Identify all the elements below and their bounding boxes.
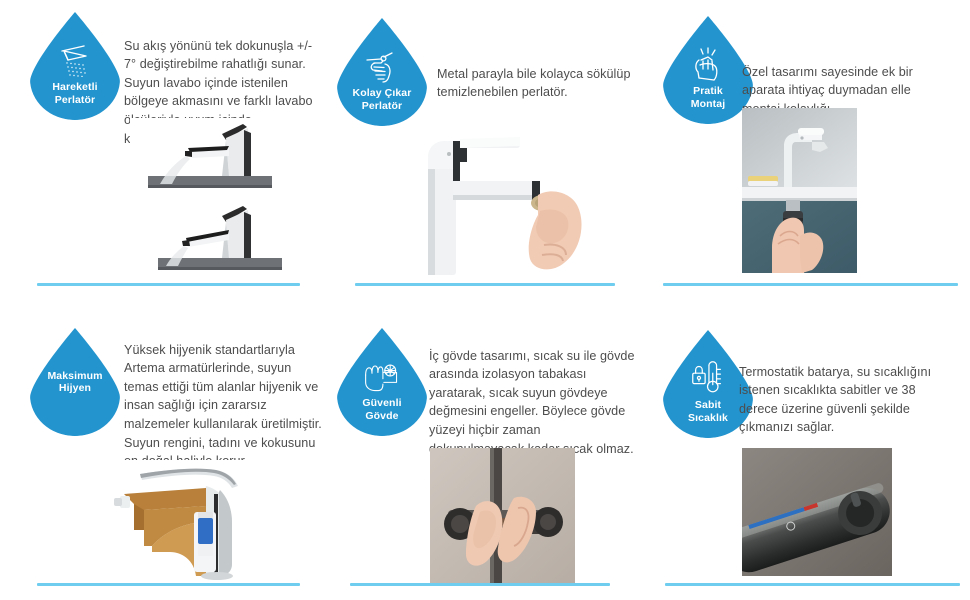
card-divider (355, 283, 615, 286)
badge-drop: Hareketli Perlatör (30, 12, 120, 120)
feature-card-pratik-montaj: Pratik Montaj Özel tasarımı sayesinde ek… (650, 0, 970, 300)
feature-description: Metal parayla bile kolayca sökülüp temiz… (437, 65, 642, 102)
badge-label: Hareketli Perlatör (52, 81, 97, 106)
feature-description: Termostatik batarya, su sıcaklığını iste… (739, 363, 947, 437)
card-divider (37, 283, 300, 286)
feature-image-faucet-cutaway (110, 460, 290, 580)
hand-sparkle-icon (688, 47, 728, 81)
badge-drop: Pratik Montaj (663, 16, 753, 124)
badge-label: Pratik Montaj (691, 85, 725, 110)
feature-image-shower-mixer-hands (430, 448, 575, 583)
badge-drop: Maksimum Hijyen (30, 328, 120, 436)
feature-image-under-counter-mount (742, 108, 857, 273)
card-header: Maksimum Hijyen Yüksek hijyenik standart… (0, 308, 325, 433)
card-divider (350, 583, 610, 586)
card-header: Kolay Çıkar Perlatör Metal parayla bile … (325, 8, 650, 133)
feature-card-guvenli-govde: Güvenli Gövde İç gövde tasarımı, sıcak s… (325, 300, 650, 600)
feature-card-kolay-cikar-perlator: Kolay Çıkar Perlatör Metal parayla bile … (325, 0, 650, 300)
hand-touching-hot-body-icon (362, 359, 402, 393)
card-header: Sabit Sıcaklık Termostatik batarya, su s… (650, 308, 970, 433)
card-divider (37, 583, 300, 586)
feature-grid: Hareketli Perlatör Su akış yönünü tek do… (0, 0, 970, 600)
card-divider (663, 283, 958, 286)
hand-with-coin-icon (362, 49, 402, 83)
badge-drop: Kolay Çıkar Perlatör (337, 18, 427, 126)
feature-image-thermostatic-mixer-closeup (742, 448, 892, 576)
thermometer-lock-icon (688, 361, 728, 395)
feature-grid-page: Hareketli Perlatör Su akış yönünü tek do… (0, 0, 970, 600)
feature-description: İç gövde tasarımı, sıcak su ile gövde ar… (429, 347, 639, 459)
shower-head-icon (55, 43, 95, 77)
badge-label: Maksimum Hijyen (47, 370, 102, 395)
feature-image-two-faucets (130, 118, 290, 280)
badge-label: Sabit Sıcaklık (688, 399, 728, 424)
feature-card-sabit-sicaklik: Sabit Sıcaklık Termostatik batarya, su s… (650, 300, 970, 600)
badge-drop: Güvenli Gövde (337, 328, 427, 436)
feature-card-hareketli-perlator: Hareketli Perlatör Su akış yönünü tek do… (0, 0, 325, 300)
feature-image-hand-removing-aerator (420, 125, 595, 280)
feature-description: Yüksek hijyenik standartlarıyla Artema a… (124, 341, 326, 471)
feature-card-maksimum-hijyen: Maksimum Hijyen Yüksek hijyenik standart… (0, 300, 325, 600)
card-divider (665, 583, 960, 586)
badge-label: Güvenli Gövde (362, 397, 401, 422)
card-header: Hareketli Perlatör Su akış yönünü tek do… (0, 8, 325, 133)
card-header: Güvenli Gövde İç gövde tasarımı, sıcak s… (325, 308, 650, 433)
badge-label: Kolay Çıkar Perlatör (353, 87, 412, 112)
